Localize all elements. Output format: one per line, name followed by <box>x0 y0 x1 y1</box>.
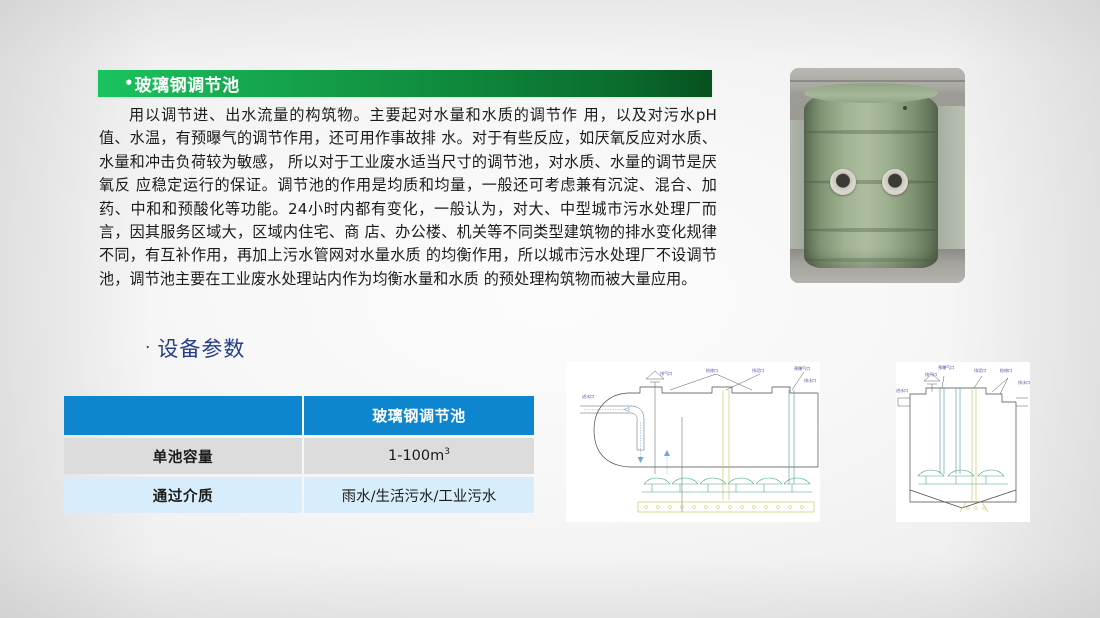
photo-main-tank <box>804 87 938 268</box>
photo-tank-flange-right <box>882 169 908 195</box>
diagram-label-inlet: 进水口 <box>582 393 594 399</box>
diagram2-label-pre-aeration: 预曝气口 <box>938 364 954 370</box>
table-header-row: 玻璃钢调节池 <box>64 396 534 435</box>
photo-tank-top-ellipse <box>804 83 938 103</box>
diagram2-label-vent: 排气口 <box>925 371 937 377</box>
table-header-cell-product: 玻璃钢调节池 <box>304 396 534 435</box>
diagram2-label-inspection: 检修口 <box>1000 367 1012 373</box>
diagram2-label-inlet: 进水口 <box>896 387 908 393</box>
slide-canvas: • 玻璃钢调节池 用以调节进、出水流量的构筑物。主要起对水量和水质的调节作 用，… <box>0 0 1100 618</box>
schematic-vertical-svg: 进水口 排气口 预曝气口 排泥口 检修口 排水口 <box>896 362 1030 522</box>
photo-tank-band <box>804 130 938 134</box>
photo-tank-flange-left <box>830 169 856 195</box>
diagram-label-drain: 排水口 <box>804 377 816 383</box>
schematic-horizontal-svg: 进水口 排气口 检修口 排泥口 预曝气口 排水口 <box>566 362 820 522</box>
params-heading-label: 设备参数 <box>157 333 245 363</box>
table-row: 单池容量 1-100m3 <box>64 438 534 474</box>
photo-tank-band <box>804 228 938 232</box>
body-paragraph: 用以调节进、出水流量的构筑物。主要起对水量和水质的调节作 用，以及对污水pH值、… <box>99 104 717 291</box>
table-cell-value-medium: 雨水/生活污水/工业污水 <box>304 477 534 513</box>
diagram2-label-drain: 排水口 <box>1018 379 1030 385</box>
diagram-label-vent: 排气口 <box>660 370 672 376</box>
table-cell-label-medium: 通过介质 <box>64 477 302 513</box>
diagram-label-pre-aeration: 预曝气口 <box>794 365 810 371</box>
photo-tank-small-port <box>903 106 907 110</box>
spec-table: 玻璃钢调节池 单池容量 1-100m3 通过介质 雨水/生活污水/工业污水 <box>62 393 536 516</box>
table-header-cell-blank <box>64 396 302 435</box>
photo-tank-band <box>804 258 938 262</box>
schematic-horizontal-tank: 进水口 排气口 检修口 排泥口 预曝气口 排水口 <box>566 362 820 522</box>
table-cell-value-capacity: 1-100m3 <box>304 438 534 474</box>
capacity-unit-exponent: 3 <box>444 447 450 457</box>
diagram2-label-sludge: 排泥口 <box>974 367 986 373</box>
photo-tank-band <box>804 180 938 184</box>
table-row: 通过介质 雨水/生活污水/工业污水 <box>64 477 534 513</box>
table-cell-label-capacity: 单池容量 <box>64 438 302 474</box>
diagram-label-inspection: 检修口 <box>706 367 718 373</box>
product-photo <box>790 68 965 283</box>
capacity-value: 1-100m <box>388 448 444 464</box>
params-heading: · 设备参数 <box>145 333 245 363</box>
page-title: 玻璃钢调节池 <box>135 71 240 96</box>
title-bullet-icon: • <box>124 76 134 91</box>
photo-wall-line <box>790 80 965 82</box>
params-heading-bullet-icon: · <box>145 340 151 357</box>
diagram-label-sludge: 排泥口 <box>752 367 764 373</box>
schematic-vertical-tank: 进水口 排气口 预曝气口 排泥口 检修口 排水口 <box>896 362 1030 522</box>
section-title-bar: • 玻璃钢调节池 <box>98 70 712 97</box>
